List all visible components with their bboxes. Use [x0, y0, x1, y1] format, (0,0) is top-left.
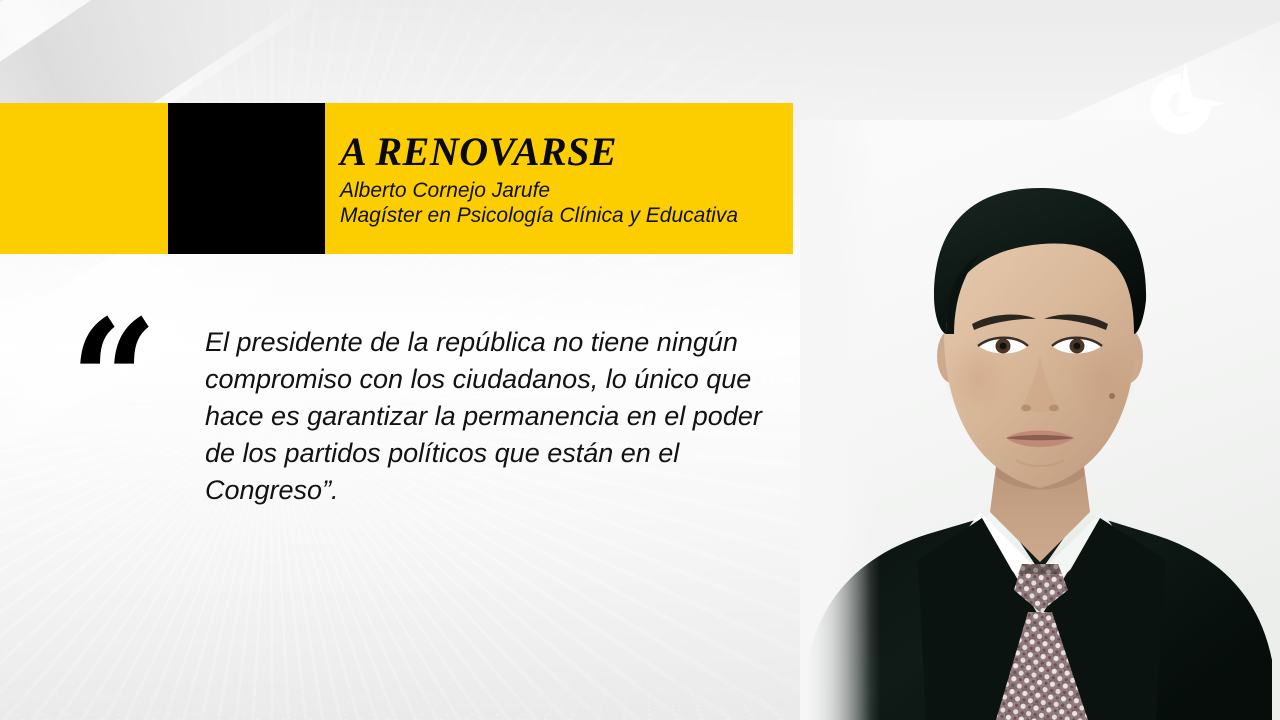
banner-text-group: A RENOVARSE Alberto Cornejo Jarufe Magís…	[340, 103, 793, 254]
portrait-photo	[800, 120, 1280, 720]
circular-arrow-logo[interactable]	[1129, 52, 1233, 156]
banner-black-block	[168, 103, 325, 254]
speaker-name: Alberto Cornejo Jarufe	[340, 178, 793, 203]
page-title: A RENOVARSE	[340, 130, 793, 174]
quote-text: El presidente de la república no tiene n…	[205, 324, 765, 509]
slide-canvas: A RENOVARSE Alberto Cornejo Jarufe Magís…	[0, 0, 1280, 720]
quotation-mark-icon: “	[67, 298, 153, 466]
speaker-credential: Magíster en Psicología Clínica y Educati…	[340, 203, 793, 228]
title-banner: A RENOVARSE Alberto Cornejo Jarufe Magís…	[0, 103, 793, 254]
